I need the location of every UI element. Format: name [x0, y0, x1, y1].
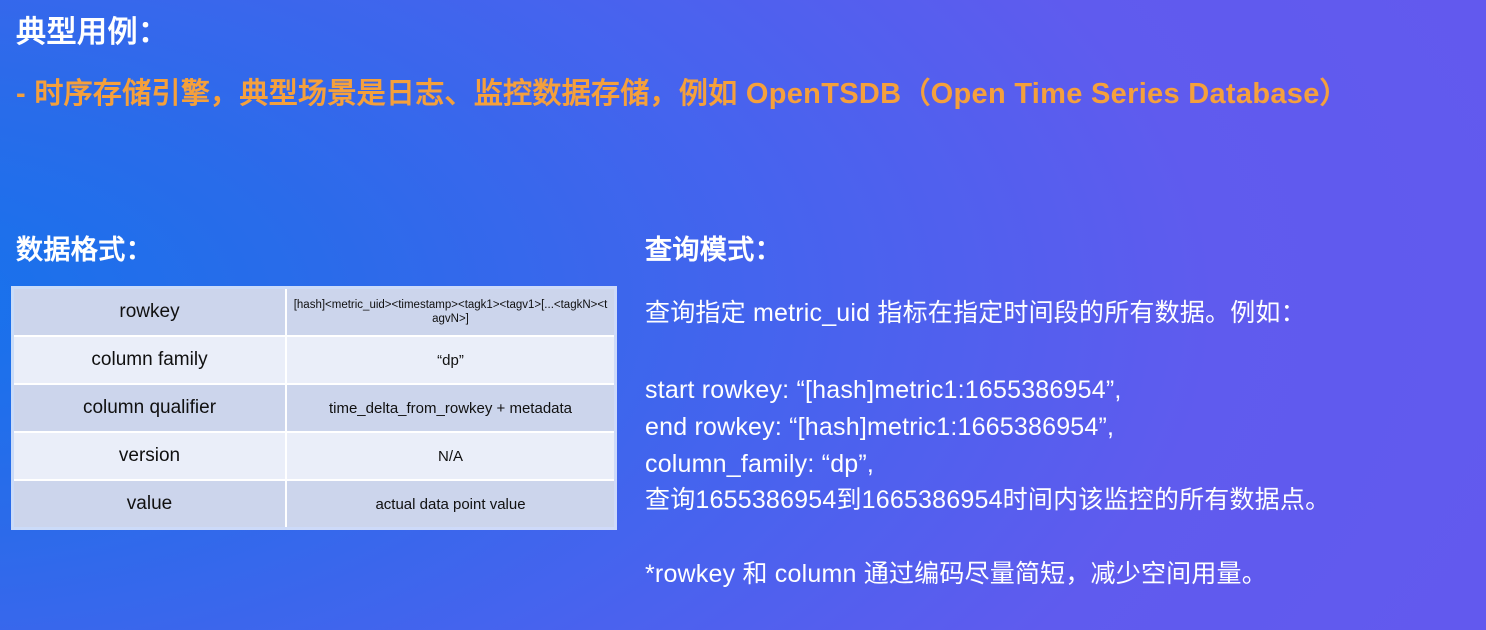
title-block: 典型用例： - 时序存储引擎，典型场景是日志、监控数据存储，例如 OpenTSD…	[16, 14, 1476, 112]
table-cell-key: column family	[14, 337, 287, 385]
table-cell-key: version	[14, 433, 287, 481]
table-row: value actual data point value	[14, 481, 614, 527]
table-cell-value: “dp”	[287, 337, 614, 385]
use-case-heading: 典型用例：	[16, 14, 1476, 52]
table-cell-value: time_delta_from_rowkey + metadata	[287, 385, 614, 433]
table-cell-value: actual data point value	[287, 481, 614, 527]
query-example-block: start rowkey: “[hash]metric1:1655386954”…	[645, 372, 1330, 519]
table-row: version N/A	[14, 433, 614, 481]
query-mode-heading: 查询模式：	[645, 228, 782, 267]
slide-canvas: 典型用例： - 时序存储引擎，典型场景是日志、监控数据存储，例如 OpenTSD…	[0, 0, 1486, 630]
table-row: column qualifier time_delta_from_rowkey …	[14, 385, 614, 433]
query-description: 查询指定 metric_uid 指标在指定时间段的所有数据。例如：	[645, 295, 1306, 332]
table-cell-value: N/A	[287, 433, 614, 481]
table-row: column family “dp”	[14, 337, 614, 385]
table-row: rowkey [hash]<metric_uid><timestamp><tag…	[14, 289, 614, 337]
use-case-bullet-line: - 时序存储引擎，典型场景是日志、监控数据存储，例如 OpenTSDB（Open…	[16, 76, 1476, 112]
table-cell-key: rowkey	[14, 289, 287, 337]
table-cell-value: [hash]<metric_uid><timestamp><tagk1><tag…	[287, 289, 614, 337]
table-cell-key: value	[14, 481, 287, 527]
table-cell-key: column qualifier	[14, 385, 287, 433]
bullet-dash: -	[16, 78, 26, 110]
schema-table: rowkey [hash]<metric_uid><timestamp><tag…	[14, 289, 614, 527]
use-case-bullet-text: 时序存储引擎，典型场景是日志、监控数据存储，例如 OpenTSDB（Open T…	[34, 78, 1349, 110]
data-format-heading: 数据格式：	[16, 228, 153, 267]
encoding-note: *rowkey 和 column 通过编码尽量简短，减少空间用量。	[645, 556, 1267, 593]
